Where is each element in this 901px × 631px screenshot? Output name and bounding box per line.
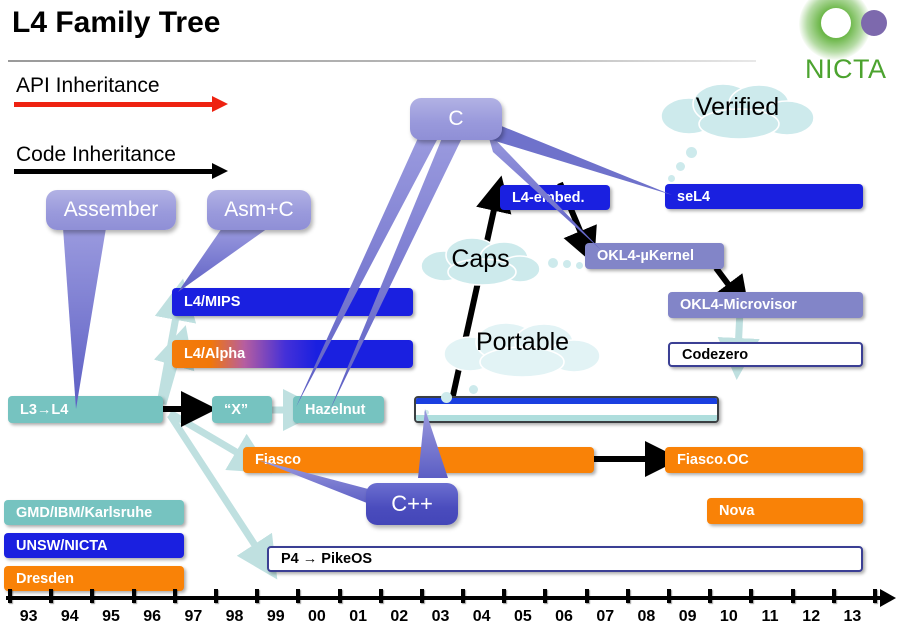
callout-label: Asm+C — [224, 198, 293, 222]
callout-label: Assember — [64, 198, 159, 222]
callout-tail-layer — [0, 0, 901, 631]
callout-label: C++ — [391, 491, 433, 517]
callout-asm-c[interactable]: Asm+C — [207, 190, 311, 230]
callout-label: C — [448, 107, 463, 131]
callout-assember[interactable]: Assember — [46, 190, 176, 230]
callout-cpp[interactable]: C++ — [366, 483, 458, 525]
slide-canvas: L4 Family Tree NICTA API Inheritance Cod… — [0, 0, 901, 631]
callout-c[interactable]: C — [410, 98, 502, 140]
